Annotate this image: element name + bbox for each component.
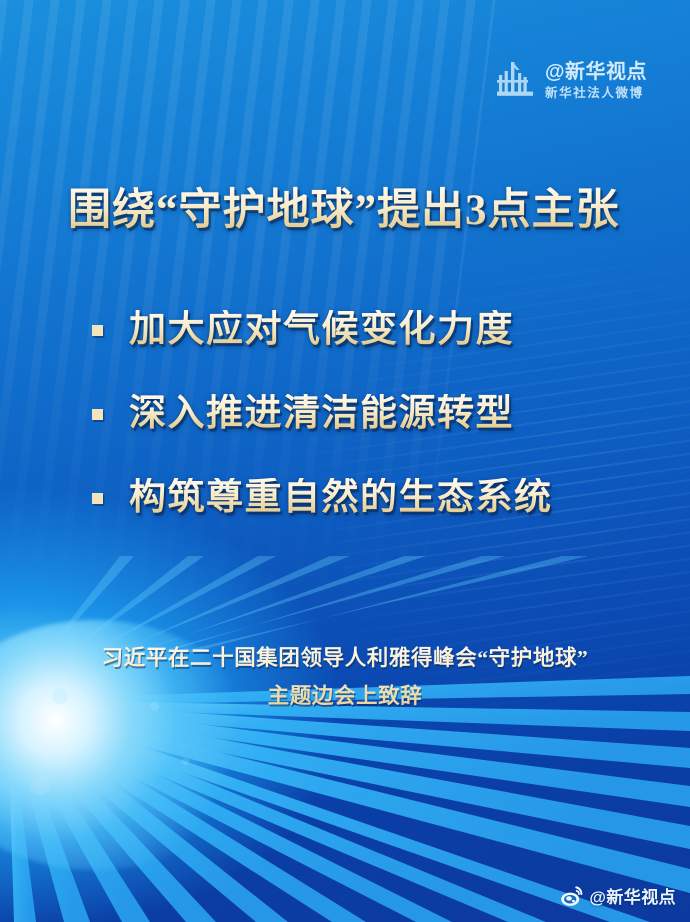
weibo-eye-icon <box>560 884 584 908</box>
header-account-subtitle: 新华社法人微博 <box>545 86 647 101</box>
square-bullet-icon <box>92 493 103 504</box>
caption: 习近平在二十国集团领导人利雅得峰会“守护地球” 主题边会上致辞 <box>0 640 690 715</box>
header-account-name: @新华视点 <box>545 61 647 84</box>
list-item-label: 加大应对气候变化力度 <box>129 310 514 351</box>
poster-canvas: @新华视点 新华社法人微博 围绕“守护地球”提出3点主张 加大应对气候变化力度 … <box>0 0 690 922</box>
header-account-text: @新华视点 新华社法人微博 <box>545 61 647 101</box>
list-item: 加大应对气候变化力度 <box>92 288 652 372</box>
list-item: 深入推进清洁能源转型 <box>92 372 652 456</box>
caption-line-2: 主题边会上致辞 <box>0 678 690 716</box>
claims-list: 加大应对气候变化力度 深入推进清洁能源转型 构筑尊重自然的生态系统 <box>92 288 652 540</box>
caption-line-1: 习近平在二十国集团领导人利雅得峰会“守护地球” <box>0 640 690 678</box>
xinhua-monument-logo-icon <box>492 58 538 104</box>
page-headline: 围绕“守护地球”提出3点主张 <box>68 186 620 235</box>
list-item-label: 构筑尊重自然的生态系统 <box>129 478 553 519</box>
footer-watermark-label: @新华视点 <box>589 883 676 908</box>
footer-watermark[interactable]: @新华视点 <box>560 883 676 908</box>
header-account-logo[interactable]: @新华视点 新华社法人微博 <box>492 58 647 104</box>
list-item-label: 深入推进清洁能源转型 <box>129 394 514 435</box>
square-bullet-icon <box>92 325 103 336</box>
list-item: 构筑尊重自然的生态系统 <box>92 456 652 540</box>
square-bullet-icon <box>92 409 103 420</box>
